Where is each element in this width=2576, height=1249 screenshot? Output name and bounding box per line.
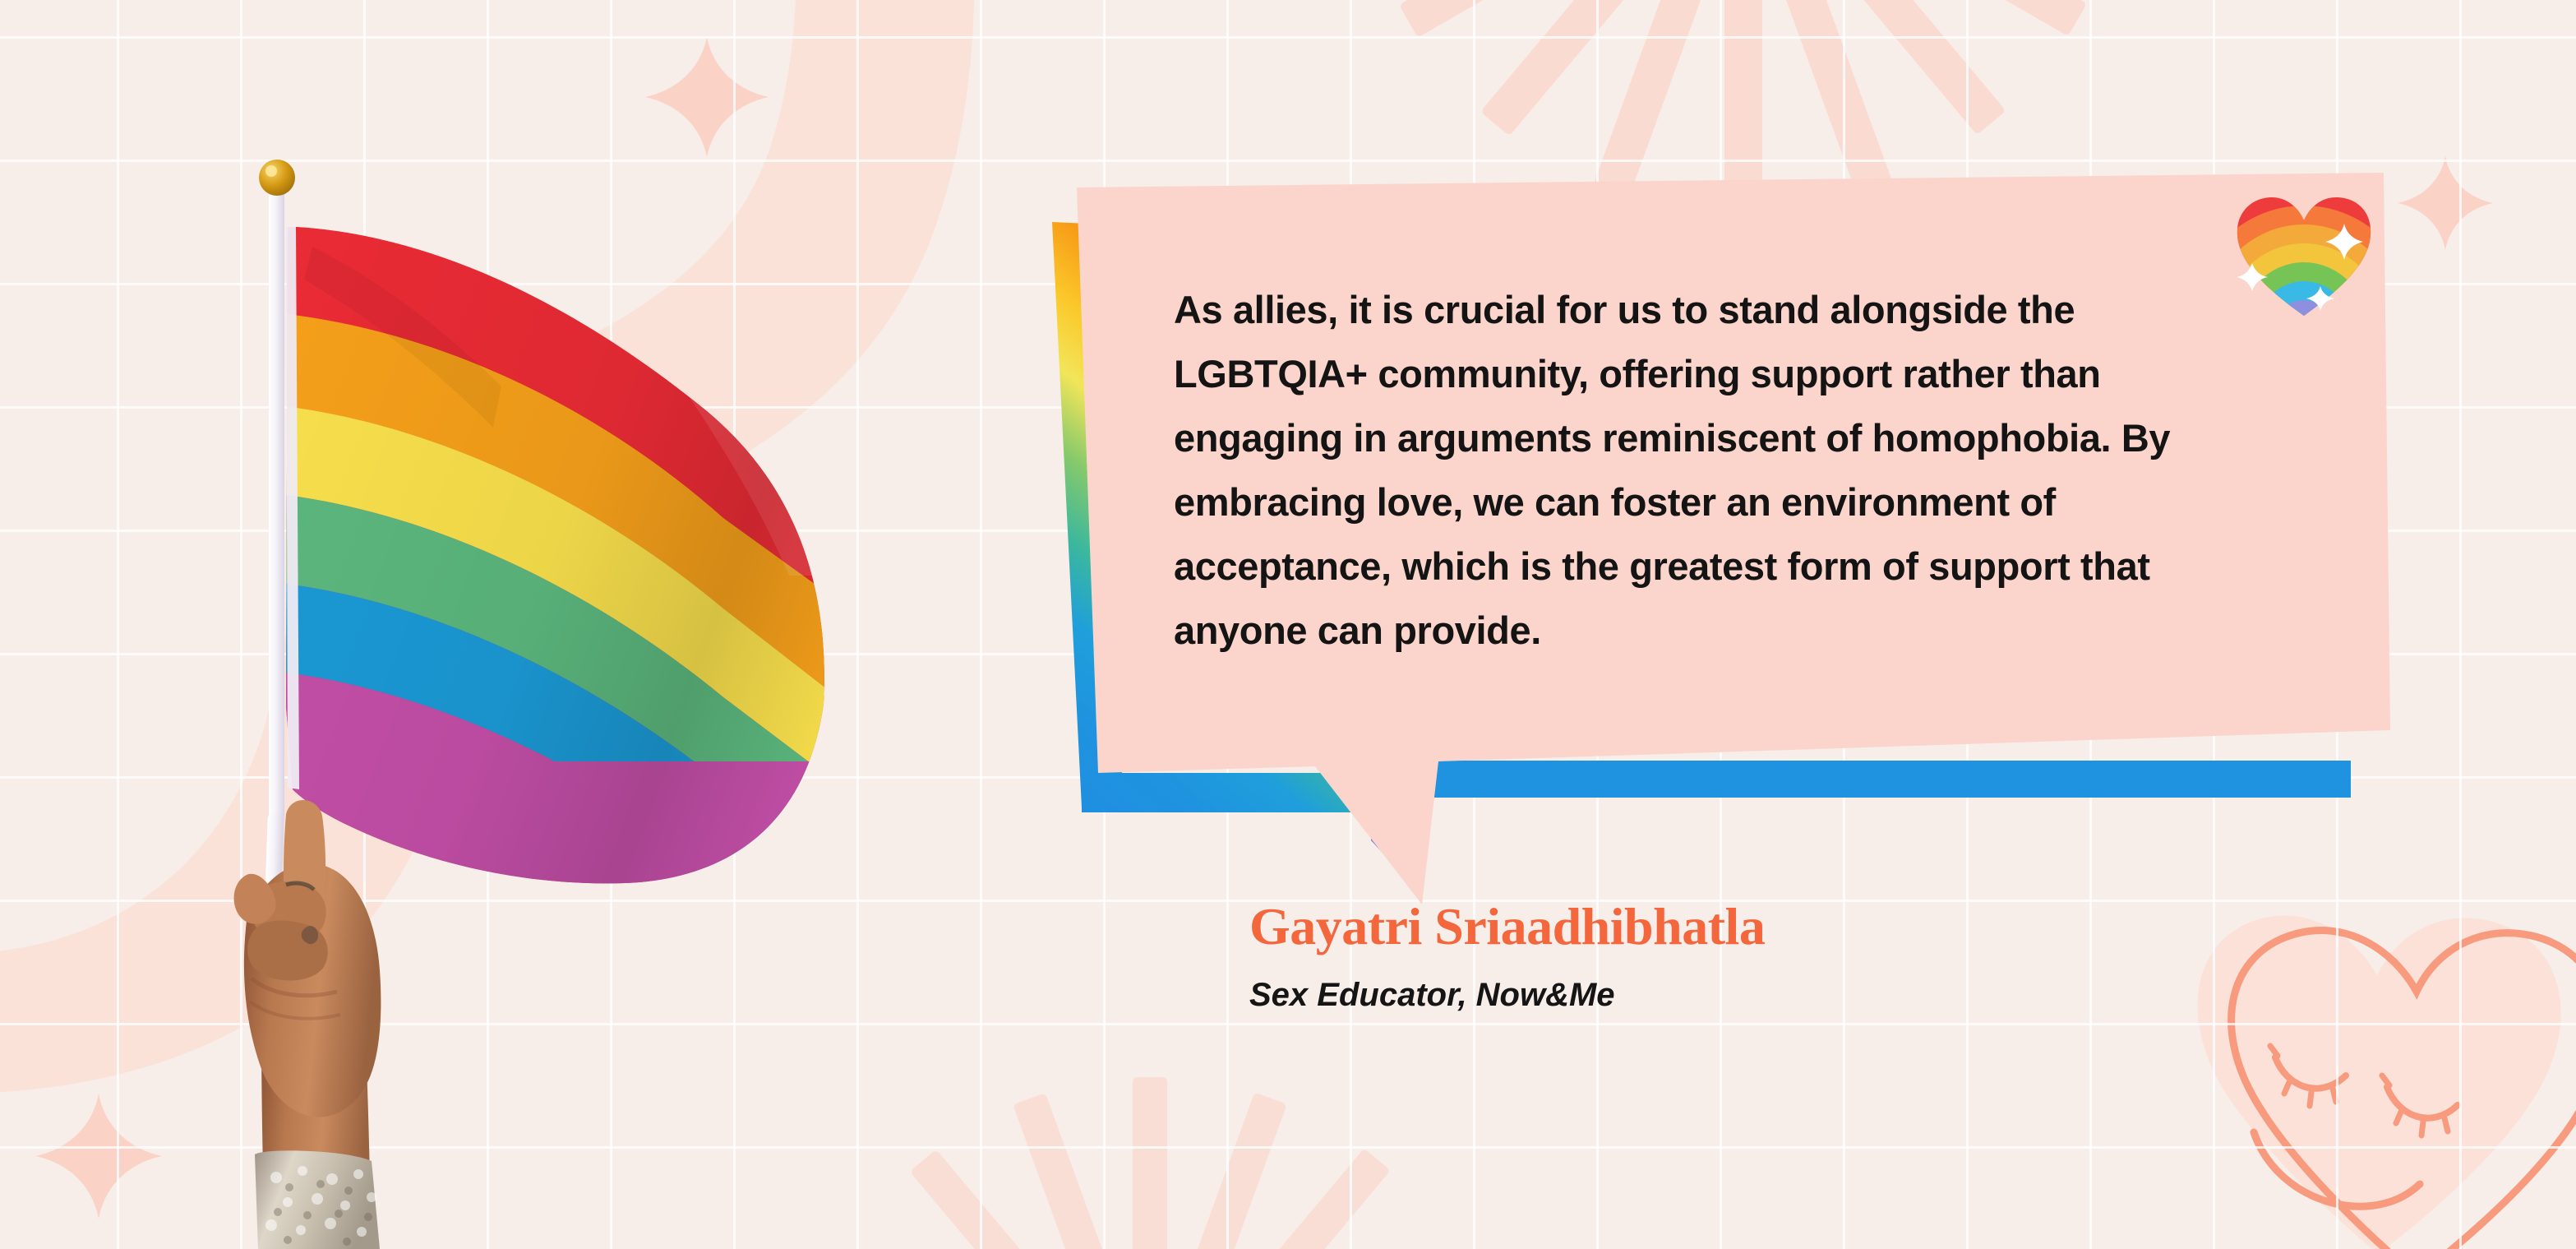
pride-quote-card: As allies, it is crucial for us to stand…: [0, 0, 2576, 1249]
flag-finial: [259, 160, 295, 196]
quote-text: As allies, it is crucial for us to stand…: [1174, 278, 2267, 663]
flag-pole: [269, 187, 284, 821]
hand-holding-flag: [234, 800, 381, 1249]
attribution: Gayatri Sriaadhibhatla Sex Educator, Now…: [1249, 896, 2400, 1018]
rainbow-heart-icon: [2234, 194, 2374, 317]
author-name: Gayatri Sriaadhibhatla: [1249, 896, 2400, 957]
pride-flag-illustration: [0, 0, 921, 1249]
author-role: Sex Educator, Now&Me: [1249, 972, 2400, 1018]
